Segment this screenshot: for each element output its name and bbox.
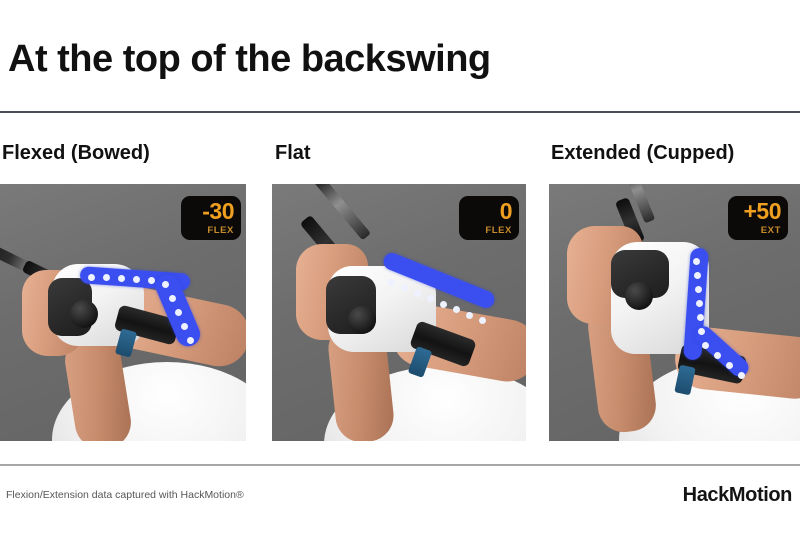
overlay-dot — [181, 323, 188, 330]
overlay-dot — [466, 312, 473, 319]
overlay-dot — [401, 284, 408, 291]
reading-badge-flat: 0 FLEX — [459, 196, 519, 240]
overlay-dot — [698, 328, 705, 335]
overlay-dot — [479, 317, 486, 324]
overlay-dot — [187, 337, 194, 344]
overlay-dot — [714, 352, 721, 359]
overlay-dot — [103, 274, 110, 281]
badge-value: 0 — [500, 200, 512, 223]
column-label-flexed: Flexed (Bowed) — [2, 142, 150, 165]
badge-unit: FLEX — [485, 226, 512, 236]
overlay-dot — [133, 276, 140, 283]
overlay-dot — [427, 295, 434, 302]
overlay-dot — [88, 274, 95, 281]
overlay-dot — [453, 306, 460, 313]
badge-value: -30 — [202, 200, 234, 223]
overlay-dot — [440, 301, 447, 308]
overlay-dot — [738, 372, 745, 379]
footer-note: Flexion/Extension data captured with Hac… — [6, 489, 244, 501]
overlay-dot — [388, 279, 395, 286]
badge-unit: EXT — [761, 226, 781, 236]
overlay-dot — [118, 275, 125, 282]
infographic-page: At the top of the backswing Flexed (Bowe… — [0, 0, 800, 541]
overlay-dot — [694, 272, 701, 279]
overlay-dot — [697, 314, 704, 321]
overlay-dot — [169, 295, 176, 302]
reading-badge-flexed: -30 FLEX — [181, 196, 241, 240]
overlay-dot — [148, 277, 155, 284]
overlay-dot — [175, 309, 182, 316]
column-label-flat: Flat — [275, 142, 311, 165]
overlay-segment-straight — [381, 251, 497, 311]
badge-unit: FLEX — [207, 226, 234, 236]
overlay-dot — [695, 286, 702, 293]
hackmotion-logo: HackMotion — [683, 484, 792, 507]
reading-badge-extended: +50 EXT — [728, 196, 788, 240]
column-label-extended: Extended (Cupped) — [551, 142, 734, 165]
overlay-dot — [162, 281, 169, 288]
footer-divider — [0, 464, 800, 466]
page-title: At the top of the backswing — [8, 40, 491, 80]
overlay-dot — [702, 342, 709, 349]
overlay-dot — [726, 362, 733, 369]
overlay-dot — [414, 290, 421, 297]
overlay-dot — [696, 300, 703, 307]
overlay-dot — [693, 258, 700, 265]
header-divider — [0, 111, 800, 113]
badge-value: +50 — [743, 200, 781, 223]
